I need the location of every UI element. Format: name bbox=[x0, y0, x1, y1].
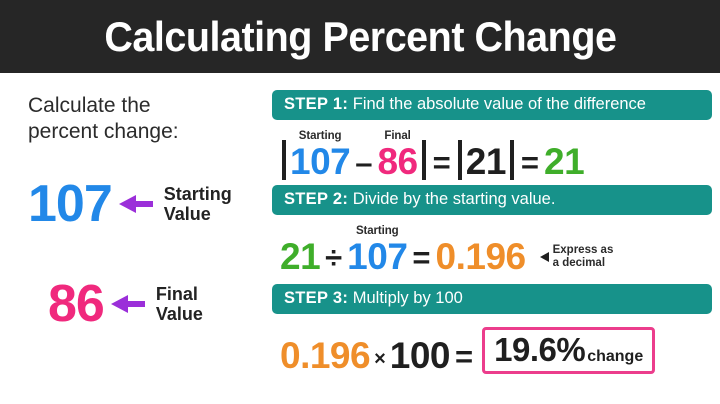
step-2-equation: 21 ÷ Starting 107 = 0.196 Express as a d… bbox=[272, 223, 720, 275]
page-title: Calculating Percent Change bbox=[104, 13, 616, 61]
note-text: Express as a decimal bbox=[553, 244, 614, 271]
step-1-term-a: 107 bbox=[290, 141, 350, 182]
step-3-banner: STEP 3: Multiply by 100 bbox=[272, 284, 712, 314]
step-1-term-a-wrap: Starting 107 bbox=[290, 143, 350, 180]
starting-value-label: Starting Value bbox=[164, 184, 232, 224]
final-answer: 19.6% bbox=[494, 333, 585, 366]
absolute-value-bar-right bbox=[422, 140, 426, 180]
final-label-line-1: Final bbox=[156, 284, 198, 304]
step-1-equation: Starting 107 – Final 86 = 21 = 21 bbox=[272, 128, 720, 180]
step-3-key: STEP 3: bbox=[284, 289, 348, 307]
note-line-1: Express as bbox=[553, 244, 614, 256]
arrow-left-small-icon bbox=[540, 252, 549, 262]
final-answer-suffix: change bbox=[587, 349, 643, 365]
prompt-line-1: Calculate the bbox=[28, 93, 248, 119]
starting-label-line-1: Starting bbox=[164, 184, 232, 204]
equals-operator-2: = bbox=[516, 147, 544, 180]
step-1-block: STEP 1: Find the absolute value of the d… bbox=[272, 90, 720, 180]
note-line-2: a decimal bbox=[553, 257, 605, 269]
step-1-result: 21 bbox=[544, 143, 584, 180]
times-operator: × bbox=[370, 349, 390, 374]
steps-panel: STEP 1: Find the absolute value of the d… bbox=[272, 73, 720, 404]
step-3-term-a: 0.196 bbox=[280, 337, 370, 374]
step-2-block: STEP 2: Divide by the starting value. 21… bbox=[272, 185, 720, 275]
title-bar: Calculating Percent Change bbox=[0, 0, 720, 73]
starting-value-row: 107 Starting Value bbox=[28, 178, 232, 230]
starting-label-line-2: Value bbox=[164, 204, 211, 224]
absolute-value-bar-right-2 bbox=[510, 140, 514, 180]
step-3-block: STEP 3: Multiply by 100 0.196 × 100 = 19… bbox=[272, 284, 720, 374]
step-3-text: Multiply by 100 bbox=[353, 289, 463, 307]
absolute-value-bar-left bbox=[282, 140, 286, 180]
problem-panel: Calculate the percent change: 107 Starti… bbox=[0, 73, 272, 404]
step-2-banner: STEP 2: Divide by the starting value. bbox=[272, 185, 712, 215]
step-1-key: STEP 1: bbox=[284, 95, 348, 113]
content-area: Calculate the percent change: 107 Starti… bbox=[0, 73, 720, 404]
equals-operator-1: = bbox=[428, 147, 456, 180]
step-3-equation: 0.196 × 100 = 19.6% change bbox=[272, 322, 720, 374]
step-1-banner: STEP 1: Find the absolute value of the d… bbox=[272, 90, 712, 120]
final-value-row: 86 Final Value bbox=[48, 278, 203, 330]
final-answer-box: 19.6% change bbox=[482, 327, 655, 374]
arrow-left-icon bbox=[119, 195, 155, 213]
step-1-term-b: 86 bbox=[377, 141, 417, 182]
step-1-inner-result: 21 bbox=[466, 143, 506, 180]
final-value-label: Final Value bbox=[156, 284, 203, 324]
step-2-key: STEP 2: bbox=[284, 190, 348, 208]
prompt-line-2: percent change: bbox=[28, 119, 248, 145]
step-1-term-b-wrap: Final 86 bbox=[377, 143, 417, 180]
step-2-result: 0.196 bbox=[436, 238, 526, 275]
step-2-term-b-wrap: Starting 107 bbox=[347, 238, 407, 275]
arrow-left-icon bbox=[111, 295, 147, 313]
absolute-value-bar-left-2 bbox=[458, 140, 462, 180]
step-2-text: Divide by the starting value. bbox=[353, 190, 556, 208]
problem-prompt: Calculate the percent change: bbox=[28, 93, 248, 144]
step-3-term-b: 100 bbox=[390, 337, 450, 374]
step-1-text: Find the absolute value of the differenc… bbox=[353, 95, 646, 113]
step-2-term-b: 107 bbox=[347, 236, 407, 277]
starting-value-number: 107 bbox=[28, 178, 112, 230]
express-as-decimal-note: Express as a decimal bbox=[540, 244, 614, 275]
final-value-number: 86 bbox=[48, 278, 104, 330]
equals-operator: = bbox=[407, 242, 435, 275]
final-label-line-2: Value bbox=[156, 304, 203, 324]
minus-operator: – bbox=[350, 147, 377, 180]
step-2-term-a: 21 bbox=[280, 238, 320, 275]
divide-operator: ÷ bbox=[320, 242, 347, 275]
equals-operator: = bbox=[450, 341, 478, 374]
